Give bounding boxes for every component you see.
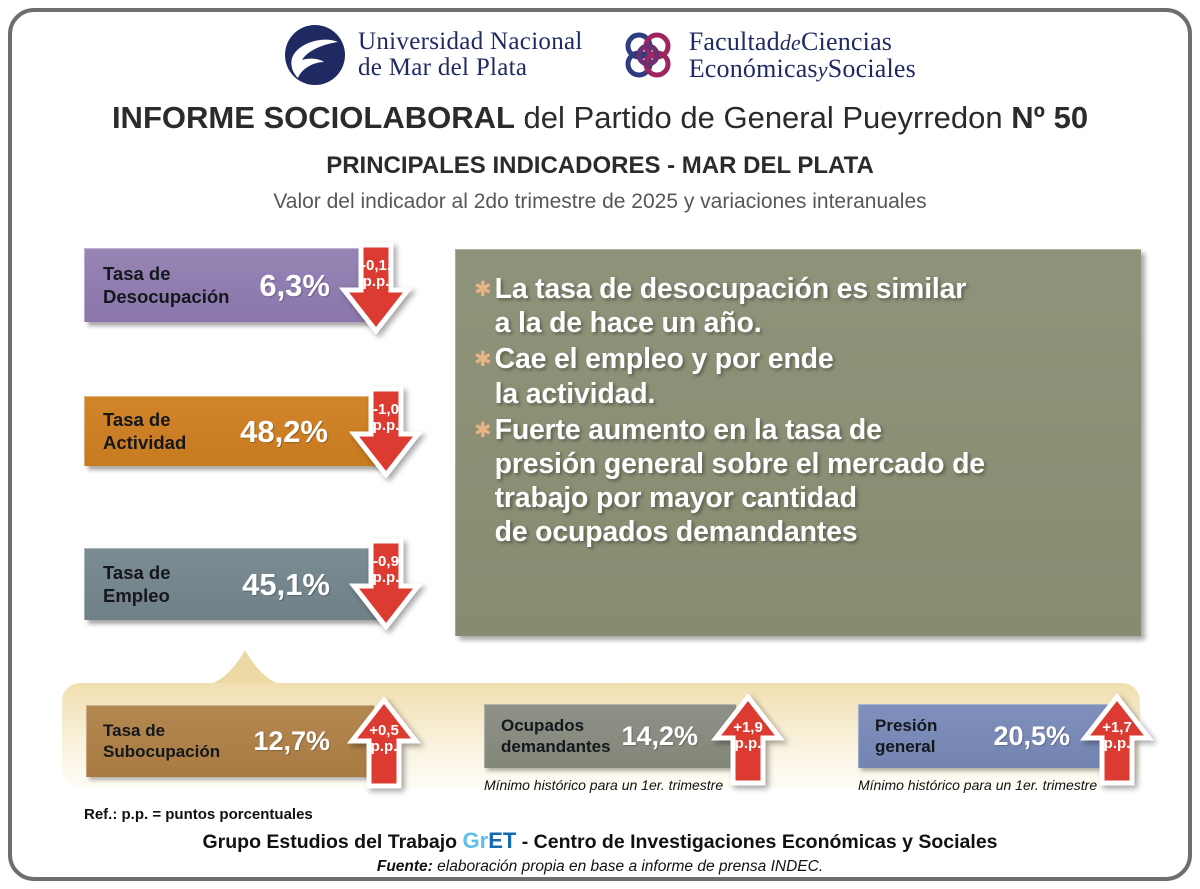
- fces-word-economicas: Económicas: [689, 54, 818, 83]
- logo-fces: FacultaddeCiencias EconómicasySociales: [619, 26, 916, 84]
- indicator-value: 45,1%: [242, 567, 330, 603]
- page-title-regular: del Partido de General Pueyrredon: [515, 100, 1011, 135]
- fces-knot-logo-icon: [619, 26, 677, 84]
- indicator-change: +1,7 p.p.: [1080, 720, 1154, 752]
- indicator-label: Tasa de Empleo: [103, 562, 171, 607]
- gret-logo-gr: Gr: [463, 828, 489, 853]
- indicator-value: 20,5%: [993, 721, 1070, 752]
- infographic-poster: Universidad Nacional de Mar del Plata: [0, 0, 1200, 889]
- indicator-value: 12,7%: [253, 726, 330, 757]
- indicator-bar-desocupacion: Tasa de Desocupación 6,3%: [84, 248, 374, 322]
- arrow-up-icon-subocupacion: +0,5 p.p.: [347, 697, 421, 789]
- indicator-bar-empleo: Tasa de Empleo 45,1%: [84, 548, 384, 620]
- indicator-value: 14,2%: [621, 721, 698, 752]
- indicator-bar-subocupacion: Tasa de Subocupación 12,7%: [86, 705, 374, 777]
- footer-gret-line: Grupo Estudios del Trabajo GrET - Centro…: [0, 828, 1200, 854]
- fces-word-ciencias: Ciencias: [801, 27, 892, 56]
- page-title-bold: INFORME SOCIOLABORAL: [112, 100, 515, 135]
- asterisk-bullet-icon: ✱: [474, 279, 492, 300]
- commentary-item: ✱ Fuerte aumento en la tasa de presión g…: [474, 413, 1123, 550]
- unmdp-wave-logo-icon: [284, 24, 346, 86]
- logo-unmdp: Universidad Nacional de Mar del Plata: [284, 24, 583, 86]
- page-subtitle: PRINCIPALES INDICADORES - MAR DEL PLATA: [0, 152, 1200, 180]
- indicator-change: +1,9 p.p.: [711, 720, 785, 752]
- header-logos: Universidad Nacional de Mar del Plata: [0, 16, 1200, 94]
- page-caption: Valor del indicador al 2do trimestre de …: [0, 190, 1200, 214]
- indicator-label: Presión general: [875, 716, 937, 757]
- commentary-text: Cae el empleo y por ende la actividad.: [495, 342, 834, 410]
- footer-gret-suffix: - Centro de Investigaciones Económicas y…: [516, 831, 997, 853]
- indicator-label: Tasa de Desocupación: [103, 263, 229, 308]
- commentary-text: Fuerte aumento en la tasa de presión gen…: [495, 413, 985, 550]
- fces-word-y: y: [818, 57, 828, 82]
- footer-source-line: Fuente: elaboración propia en base a inf…: [0, 858, 1200, 876]
- asterisk-bullet-icon: ✱: [474, 349, 492, 370]
- commentary-item: ✱ La tasa de desocupación es similar a l…: [474, 272, 1123, 340]
- indicator-label: Tasa de Actividad: [103, 409, 186, 454]
- footer-gret-prefix: Grupo Estudios del Trabajo: [202, 831, 462, 853]
- arrow-up-icon-presion-general: +1,7 p.p.: [1080, 694, 1154, 786]
- arrow-down-icon-empleo: -0,9 p.p.: [349, 538, 423, 630]
- arrow-up-icon-ocupados-demandantes: +1,9 p.p.: [711, 694, 785, 786]
- indicator-label: Tasa de Subocupación: [103, 721, 220, 762]
- fces-word-sociales: Sociales: [828, 54, 916, 83]
- indicator-value: 6,3%: [259, 268, 330, 304]
- footer-source-label: Fuente:: [377, 858, 433, 875]
- commentary-panel: ✱ La tasa de desocupación es similar a l…: [455, 249, 1141, 636]
- page-title: INFORME SOCIOLABORAL del Partido de Gene…: [0, 100, 1200, 136]
- indicator-value: 48,2%: [240, 414, 328, 450]
- logo-fces-line2: EconómicasySociales: [689, 55, 916, 82]
- page-title-number: Nº 50: [1011, 100, 1088, 135]
- logo-fces-line1: FacultaddeCiencias: [689, 28, 916, 55]
- indicator-change: -0,1, p.p.: [339, 258, 413, 290]
- indicator-label: Ocupados demandantes: [501, 716, 611, 757]
- footnote-ref: Ref.: p.p. = puntos porcentuales: [84, 806, 313, 823]
- indicator-bar-actividad: Tasa de Actividad 48,2%: [84, 396, 384, 466]
- indicator-change: -0,9 p.p.: [349, 554, 423, 586]
- fces-word-facultad: Facultad: [689, 27, 780, 56]
- fces-word-de: de: [780, 30, 801, 55]
- logo-unmdp-line1: Universidad Nacional: [358, 29, 583, 56]
- footer-source-text: elaboración propia en base a informe de …: [433, 858, 823, 875]
- arrow-down-icon-actividad: -1,0 p.p.: [349, 386, 423, 478]
- indicator-change: -1,0 p.p.: [349, 402, 423, 434]
- gret-logo-et: ET: [488, 828, 516, 853]
- asterisk-bullet-icon: ✱: [474, 420, 492, 441]
- panel-pointer-tab: [195, 648, 295, 688]
- indicator-bar-ocupados-demandantes: Ocupados demandantes 14,2%: [484, 704, 736, 768]
- indicator-change: +0,5 p.p.: [347, 723, 421, 755]
- logo-unmdp-line2: de Mar del Plata: [358, 55, 583, 82]
- commentary-text: La tasa de desocupación es similar a la …: [495, 272, 967, 340]
- arrow-down-icon-desocupacion: -0,1, p.p.: [339, 242, 413, 334]
- logo-unmdp-text: Universidad Nacional de Mar del Plata: [358, 29, 583, 82]
- indicator-note-ocupados-demandantes: Mínimo histórico para un 1er. trimestre: [484, 777, 723, 793]
- commentary-item: ✱ Cae el empleo y por ende la actividad.: [474, 342, 1123, 410]
- logo-fces-text: FacultaddeCiencias EconómicasySociales: [689, 28, 916, 82]
- indicator-note-presion-general: Mínimo histórico para un 1er. trimestre: [858, 777, 1097, 793]
- indicator-bar-presion-general: Presión general 20,5%: [858, 704, 1108, 768]
